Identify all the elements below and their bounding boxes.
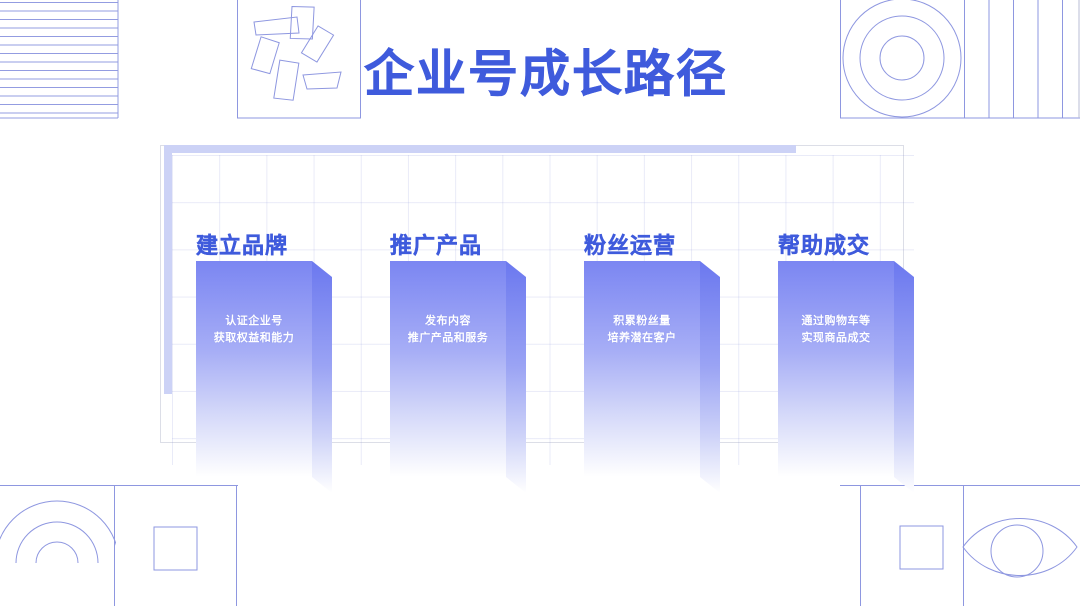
column-4-body: 通过购物车等 实现商品成交 [778, 313, 894, 347]
column-4-bar: 通过购物车等 实现商品成交 [778, 261, 914, 497]
column-2-bar: 发布内容 推广产品和服务 [390, 261, 526, 497]
column-3-bar: 积累粉丝量 培养潜在客户 [584, 261, 720, 497]
column-1-line1: 认证企业号 [196, 313, 312, 330]
column-2-line2: 推广产品和服务 [390, 330, 506, 347]
column-1-line2: 获取权益和能力 [196, 330, 312, 347]
column-2-heading: 推广产品 [390, 228, 482, 260]
column-1-body: 认证企业号 获取权益和能力 [196, 313, 312, 347]
growth-path-columns: 建立品牌 [0, 0, 1080, 606]
slide-canvas: 企业号成长路径 建立品牌 [0, 0, 1080, 606]
column-2-line1: 发布内容 [390, 313, 506, 330]
column-4-line1: 通过购物车等 [778, 313, 894, 330]
column-3-line2: 培养潜在客户 [584, 330, 700, 347]
column-4-heading: 帮助成交 [778, 228, 870, 260]
column-3-heading: 粉丝运营 [584, 228, 676, 260]
column-1-heading: 建立品牌 [196, 228, 288, 260]
column-3-body: 积累粉丝量 培养潜在客户 [584, 313, 700, 347]
column-4-line2: 实现商品成交 [778, 330, 894, 347]
column-1-bar: 认证企业号 获取权益和能力 [196, 261, 332, 497]
column-3-line1: 积累粉丝量 [584, 313, 700, 330]
column-2-body: 发布内容 推广产品和服务 [390, 313, 506, 347]
